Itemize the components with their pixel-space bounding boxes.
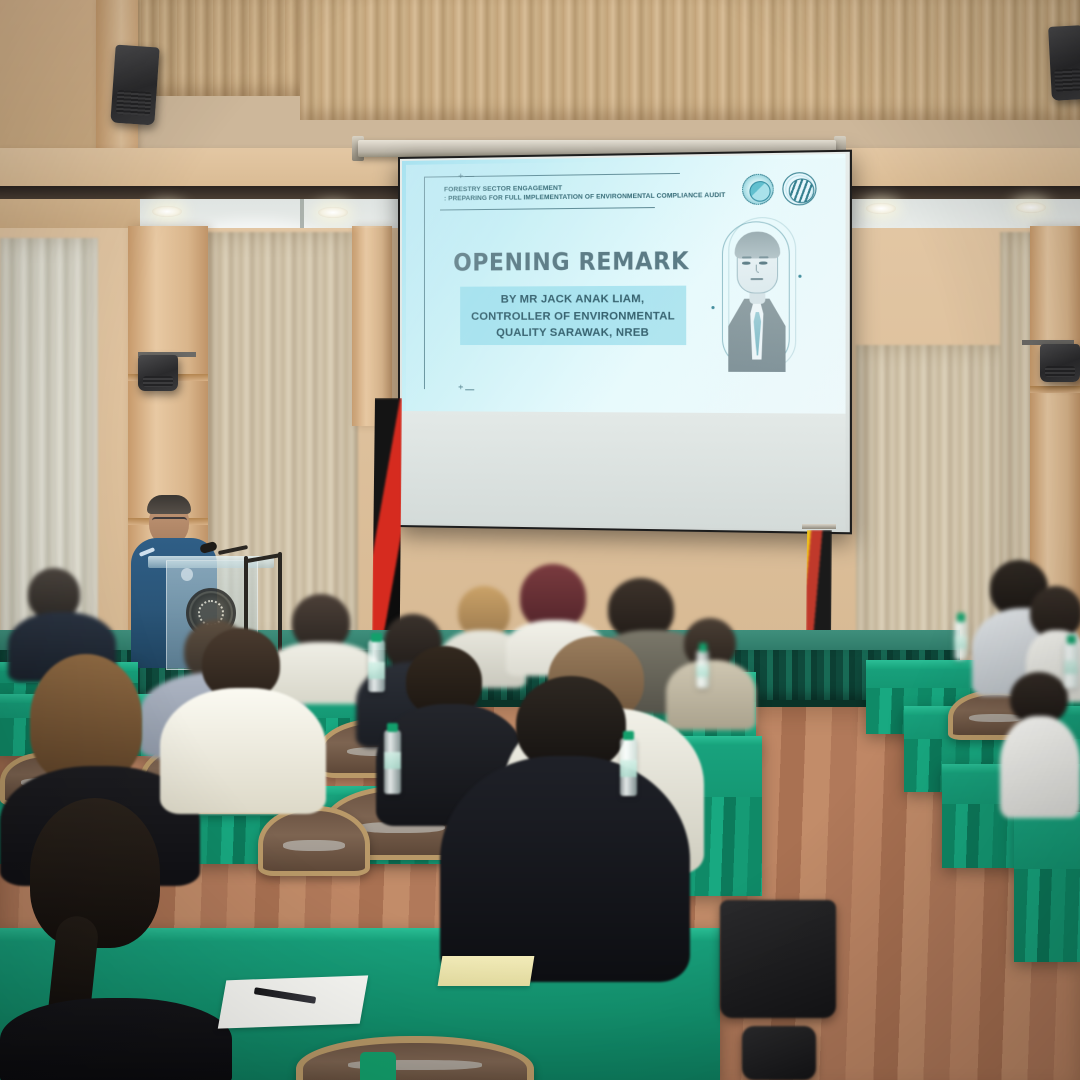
slide-subtitle-line3: QUALITY SARAWAK, NREB [460,325,686,342]
presenter-hair [147,495,191,514]
screen-blank-area [402,411,846,530]
paper-sheet [218,975,368,1028]
nreb-logo-icon [742,174,774,205]
portrait-eyebrow [759,256,769,258]
slide-footer [444,371,445,387]
ceiling-downlight [318,207,348,218]
presentation-slide: + + FORESTRY SECTOR ENGAGEMENT : PREPARI… [402,154,846,414]
slide-deco-tick [465,176,474,177]
flag-pole-right [802,524,836,529]
ceiling-downlight [1016,202,1046,213]
water-bottle-4 [954,620,967,660]
wall-speaker-upper-left [110,45,159,126]
water-bottle-5 [696,650,709,688]
slide-subtitle-line1: BY MR JACK ANAK LIAM, [460,291,686,309]
projection-screen: + + FORESTRY SECTOR ENGAGEMENT : PREPARI… [398,150,852,535]
slide-subtitle: BY MR JACK ANAK LIAM, CONTROLLER OF ENVI… [460,291,686,342]
chair-mid-3 [258,806,370,876]
portrait-eyebrow [742,256,752,258]
ceiling-slat-panel-main [300,0,1080,120]
wall-speaker-upper-right [1048,25,1080,101]
wall-pilaster-center [352,226,392,426]
water-bottle-3 [620,738,637,796]
slide-deco-tick [465,389,474,390]
slide-decorative-frame [424,173,680,390]
slide-footer-line1 [444,371,445,379]
yellow-notepad [438,956,535,986]
slide-subtitle-line2: CONTROLLER OF ENVIRONMENTAL [460,308,686,325]
portrait-mouth [750,278,763,280]
conference-hall-photo: + + FORESTRY SECTOR ENGAGEMENT : PREPARI… [0,0,1080,1080]
ceiling-downlight [152,206,182,217]
slide-deco-plus-icon: + [458,383,463,392]
audience-person-foreground-ponytail [0,798,232,1080]
stage-flag-right [806,530,832,642]
portrait-eye [759,261,767,264]
water-bottle-2 [384,730,401,794]
person-hair [30,654,142,782]
slide-title: OPENING REMARK [438,247,705,277]
forestry-department-logo-icon [782,172,816,206]
person-torso [1000,716,1080,818]
wall-speaker-mid-right [1040,344,1080,382]
shoe [742,1026,816,1080]
person-torso [0,998,232,1080]
person-torso [440,756,690,982]
audience-person-front-dark [440,676,690,976]
portrait-accent-dot [798,275,801,278]
ceiling-downlight [866,203,896,214]
portrait-nose [756,265,759,273]
chair-foreground [296,1036,534,1080]
person-torso [160,688,326,814]
slide-header: FORESTRY SECTOR ENGAGEMENT : PREPARING F… [444,182,754,202]
slide-deco-plus-icon: + [458,172,463,181]
table-right-row4 [1014,812,1080,962]
audience-person-right-3 [1000,672,1080,812]
portrait-accent-dot [711,306,714,309]
slide-footer-line2 [444,379,445,387]
water-bottle-1 [368,640,385,692]
water-bottle-6 [1064,642,1078,688]
wall-speaker-mid-left [138,355,178,391]
water-bottle-cap-foreground [360,1052,396,1080]
slide-portrait-illustration [709,217,802,374]
backpack [720,900,836,1018]
audience-person-white-shirt-2 [160,628,326,804]
presenter-glasses-icon [152,517,187,524]
portrait-eye [742,262,750,265]
